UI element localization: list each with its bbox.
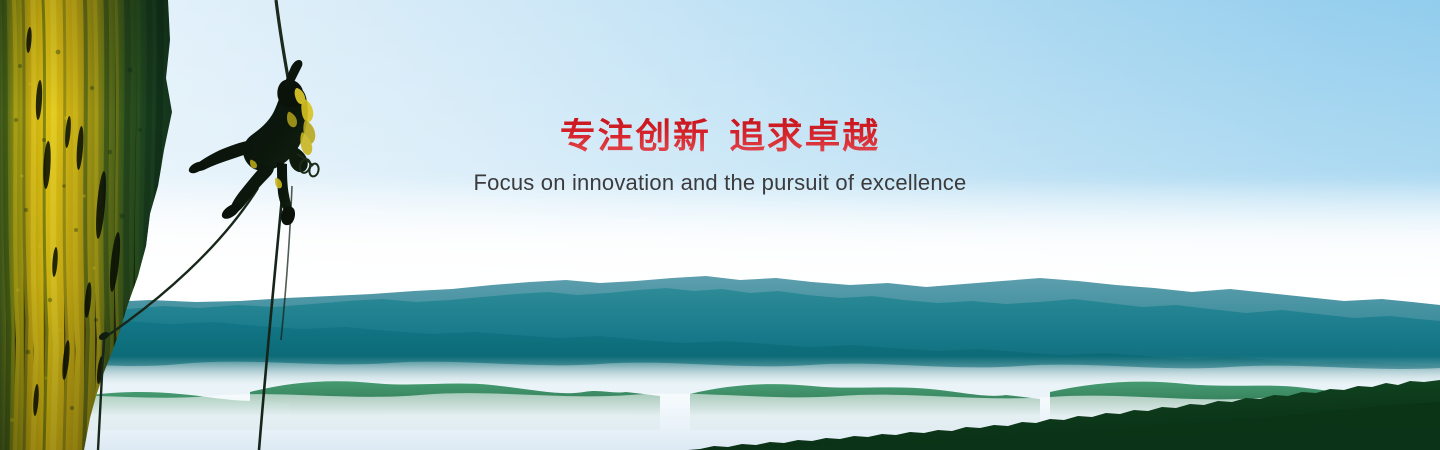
hero-banner: 专注创新追求卓越 Focus on innovation and the pur… (0, 0, 1440, 450)
climber-silhouette (185, 58, 345, 233)
